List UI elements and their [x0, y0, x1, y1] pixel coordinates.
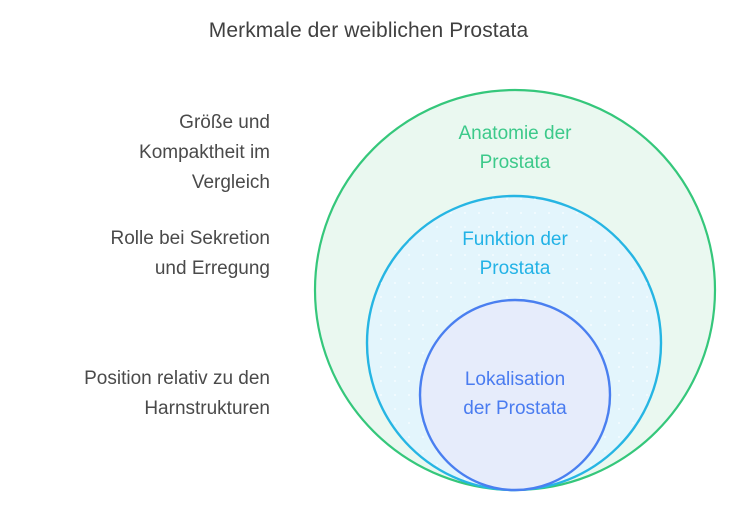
circle-label-line: der Prostata — [395, 394, 635, 423]
circle-label-line: Funktion der — [395, 225, 635, 254]
circle-label-line: Prostata — [395, 148, 635, 177]
circle-label-line: Prostata — [395, 254, 635, 283]
diagram-canvas: Merkmale der weiblichen Prostata Größe u… — [0, 0, 737, 512]
circle-label-location: Lokalisation der Prostata — [395, 365, 635, 423]
circle-label-function: Funktion der Prostata — [395, 225, 635, 283]
circle-label-line: Anatomie der — [395, 119, 635, 148]
circle-label-anatomy: Anatomie der Prostata — [395, 119, 635, 177]
circle-label-line: Lokalisation — [395, 365, 635, 394]
